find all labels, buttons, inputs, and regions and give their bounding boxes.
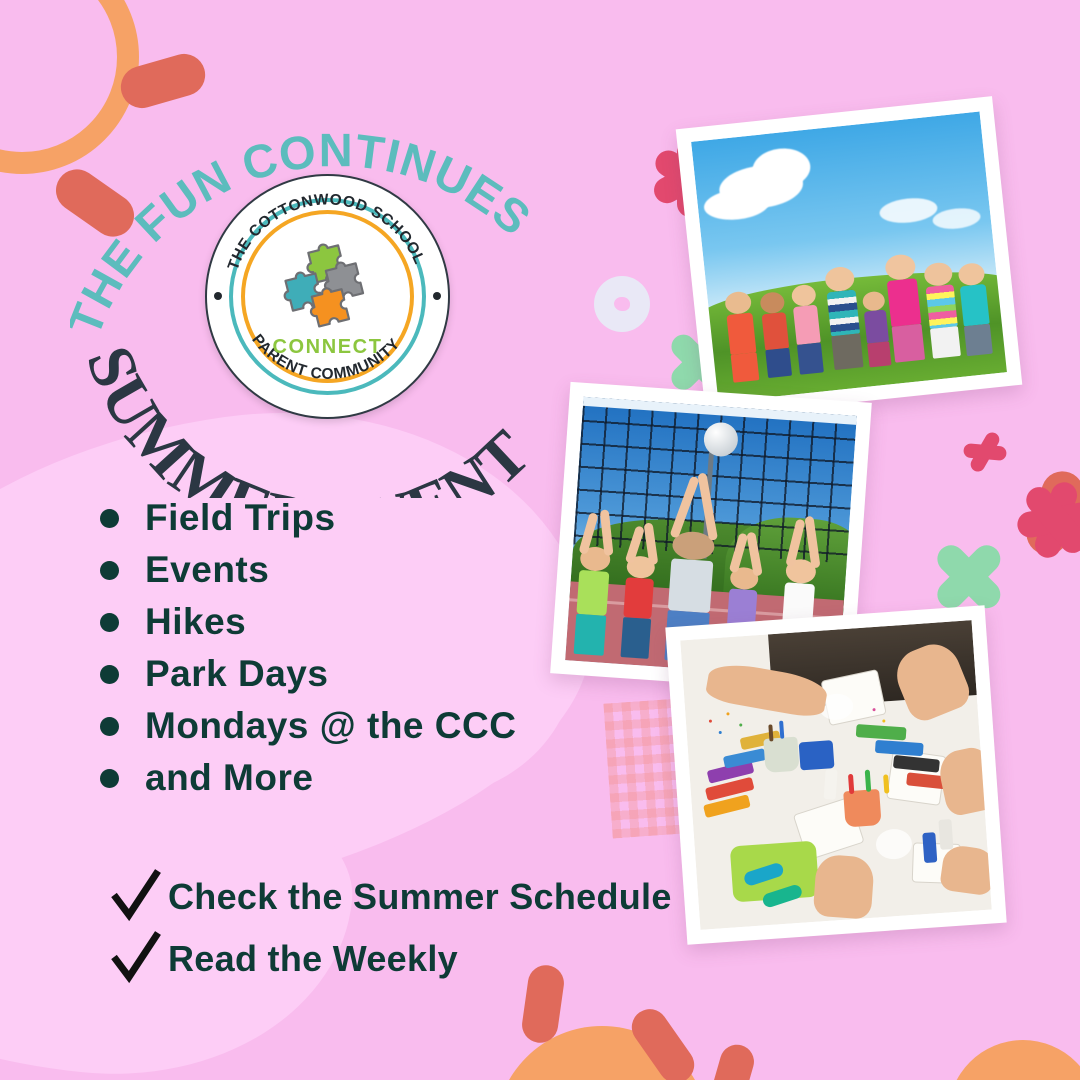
checkmark-icon: [108, 931, 164, 987]
photo-kids-craft-table: [665, 605, 1006, 945]
bullet-dot-icon: [100, 769, 119, 788]
cta-row: Read the Weekly: [108, 928, 672, 990]
activity-label: Field Trips: [145, 497, 336, 539]
activity-label: and More: [145, 757, 313, 799]
bullet-dot-icon: [100, 613, 119, 632]
activity-label: Events: [145, 549, 269, 591]
logo-center-word: CONNECT: [205, 336, 450, 359]
bullet-dot-icon: [100, 717, 119, 736]
list-item: Events: [100, 544, 516, 596]
list-item: Hikes: [100, 596, 516, 648]
bullet-dot-icon: [100, 665, 119, 684]
bullet-dot-icon: [100, 561, 119, 580]
activity-label: Hikes: [145, 601, 246, 643]
activities-list: Field Trips Events Hikes Park Days Monda…: [100, 492, 516, 804]
organization-logo: THE COTTONWOOD SCHOOL PARENT COMMUNITY C…: [205, 174, 450, 419]
cta-label: Check the Summer Schedule: [168, 876, 672, 918]
bullet-dot-icon: [100, 509, 119, 528]
orange-circle-bottom-right: [948, 1040, 1080, 1080]
puzzle-pieces-icon: [277, 240, 379, 334]
coral-pill-5: [706, 1041, 758, 1080]
list-item: and More: [100, 752, 516, 804]
activity-label: Mondays @ the CCC: [145, 705, 516, 747]
activity-label: Park Days: [145, 653, 328, 695]
list-item: Park Days: [100, 648, 516, 700]
checkmark-icon: [108, 869, 164, 925]
poster-canvas: THE FUN CONTINUES SUMMER EVENTS THE COTT…: [0, 0, 1080, 1080]
list-item: Field Trips: [100, 492, 516, 544]
cta-label: Read the Weekly: [168, 938, 458, 980]
call-to-action-list: Check the Summer Schedule Read the Weekl…: [108, 866, 672, 990]
list-item: Mondays @ the CCC: [100, 700, 516, 752]
lavender-donut-decoration: [594, 276, 650, 332]
cta-row: Check the Summer Schedule: [108, 866, 672, 928]
photo-kids-running-in-field: [676, 96, 1023, 418]
